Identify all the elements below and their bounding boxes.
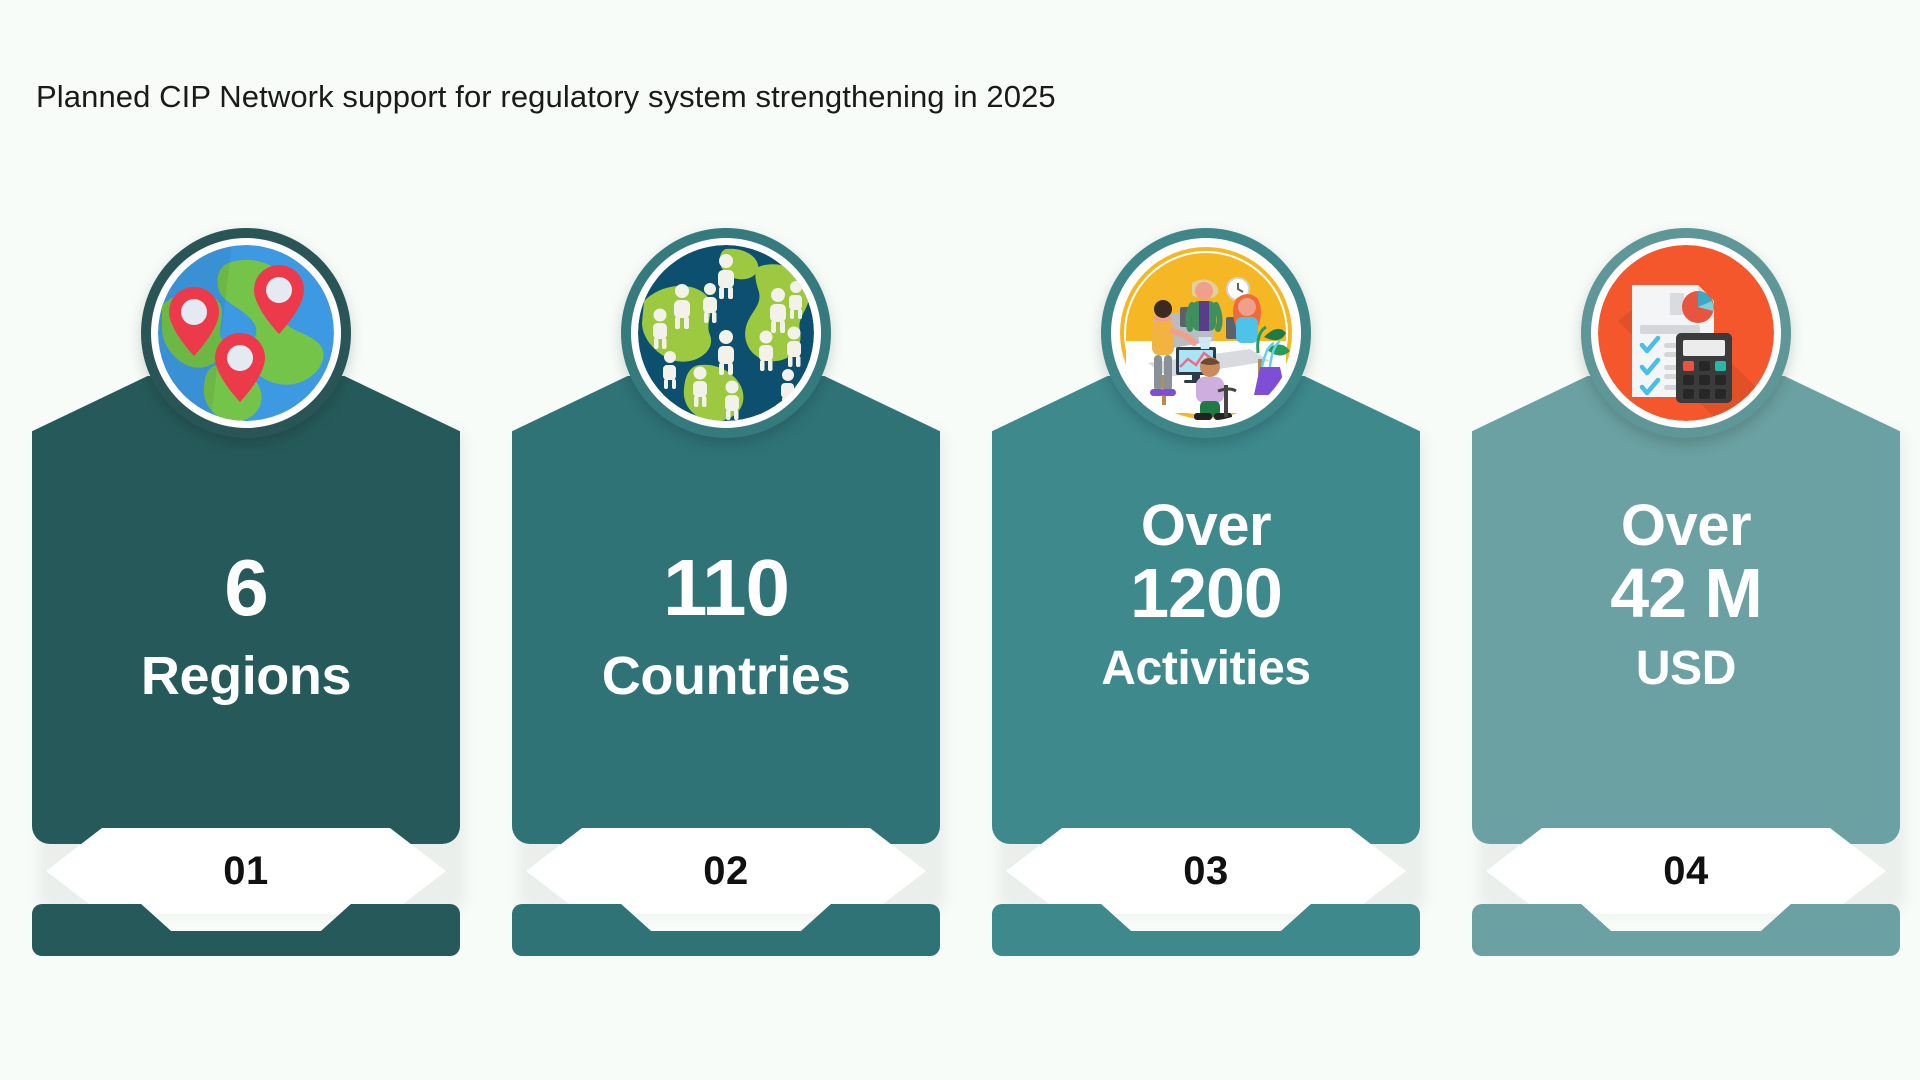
globe-with-map-pins-icon (141, 228, 351, 438)
stat-card-budget[interactable]: Over 42 M USD 04 (1472, 228, 1900, 1018)
report-calculator-art (1598, 245, 1774, 421)
card-step-number: 03 (1183, 851, 1229, 891)
globe-people-art (638, 245, 814, 421)
infographic-canvas: Planned CIP Network support for regulato… (0, 0, 1920, 1080)
office-teamwork-icon (1101, 228, 1311, 438)
card-step-band[interactable]: 01 (46, 828, 446, 914)
globe-pins-art (158, 245, 334, 421)
card-step-band[interactable]: 03 (1006, 828, 1406, 914)
stat-card-countries[interactable]: 110 Countries 02 (512, 228, 940, 1018)
card-step-number: 02 (703, 851, 749, 891)
office-teamwork-art (1118, 245, 1294, 421)
card-step-number: 01 (223, 851, 269, 891)
card-step-band[interactable]: 02 (526, 828, 926, 914)
card-body (512, 490, 940, 844)
stat-card-activities[interactable]: Over 1200 Activities 03 (992, 228, 1420, 1018)
card-step-number: 04 (1663, 851, 1709, 891)
report-and-calculator-icon (1581, 228, 1791, 438)
stat-card-row: 6 Regions 01 (0, 0, 1920, 1080)
globe-with-people-icon (621, 228, 831, 438)
card-body (1472, 490, 1900, 844)
card-body (32, 490, 460, 844)
card-body (992, 490, 1420, 844)
stat-card-regions[interactable]: 6 Regions 01 (32, 228, 460, 1018)
card-step-band[interactable]: 04 (1486, 828, 1886, 914)
